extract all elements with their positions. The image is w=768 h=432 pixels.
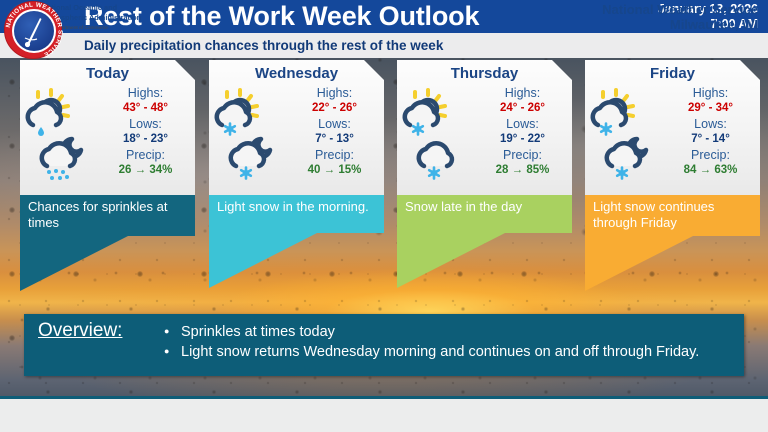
lows-value: 18° - 23° [98, 132, 193, 146]
forecast-day-name: Thursday [397, 65, 572, 82]
footer-office-name: National Weather Service [602, 3, 758, 18]
weather-graphic: Rest of the Work Week Outlook January 13… [0, 0, 768, 432]
forecast-panel-today[interactable]: Today [20, 60, 195, 291]
footer-office: National Weather Service Milwaukee, WI [602, 3, 758, 32]
forecast-card: Wednesday [209, 60, 384, 195]
lows-value: 19° - 22° [475, 132, 570, 146]
highs-label: Highs: [475, 86, 570, 101]
forecast-bubble-tail [397, 232, 572, 288]
forecast-panel-thursday[interactable]: Thursday [397, 60, 572, 288]
forecast-stats: Highs: 29° - 34° Lows: 7° - 14° Precip: … [663, 84, 758, 178]
lows-value: 7° - 13° [287, 132, 382, 146]
forecast-bubble-tail [20, 235, 195, 291]
sun-cloud-snow-icon [214, 87, 272, 137]
nws-roundel-logo: NATIONAL WEATHER SERVICE [4, 1, 62, 59]
forecast-card: Thursday [397, 60, 572, 195]
footer-bar [0, 399, 768, 432]
precip-value: 26 → 34% [98, 163, 193, 177]
precip-value: 40 → 15% [287, 163, 382, 177]
forecast-bubble-tail [209, 232, 384, 288]
lows-label: Lows: [663, 117, 758, 132]
highs-value: 22° - 26° [287, 101, 382, 115]
precip-label: Precip: [663, 148, 758, 163]
forecast-card: Friday [585, 60, 760, 195]
highs-label: Highs: [98, 86, 193, 101]
forecast-stats: Highs: 22° - 26° Lows: 7° - 13° Precip: … [287, 84, 382, 178]
lows-label: Lows: [475, 117, 570, 132]
sun-cloud-snow-icon [402, 87, 460, 137]
lows-value: 7° - 14° [663, 132, 758, 146]
forecast-icons [214, 85, 286, 190]
precip-value: 84 → 63% [663, 163, 758, 177]
forecast-summary: Light snow in the morning. [209, 195, 384, 233]
sun-cloud-rain-icon [25, 87, 83, 137]
precip-label: Precip: [98, 148, 193, 163]
forecast-icons [402, 85, 474, 190]
page-subtitle: Daily precipitation chances through the … [84, 33, 443, 58]
nws-logo-lightning-icon [23, 14, 45, 48]
highs-value: 29° - 34° [663, 101, 758, 115]
forecast-summary: Snow late in the day [397, 195, 572, 233]
overview-bullet-list: Sprinkles at times today Light snow retu… [164, 322, 699, 362]
precip-value: 28 → 85% [475, 163, 570, 177]
forecast-panel-wednesday[interactable]: Wednesday [209, 60, 384, 288]
moon-cloud-snow-icon [604, 133, 662, 183]
forecast-panel-friday[interactable]: Friday [585, 60, 760, 291]
cloud-snow-icon [416, 133, 474, 183]
forecast-bubble-tail [585, 235, 760, 291]
list-item: Light snow returns Wednesday morning and… [164, 342, 699, 362]
highs-value: 43° - 48° [98, 101, 193, 115]
forecast-stats: Highs: 24° - 26° Lows: 19° - 22° Precip:… [475, 84, 570, 178]
forecast-panel-row: Today [0, 60, 768, 300]
forecast-day-name: Today [20, 65, 195, 82]
highs-value: 24° - 26° [475, 101, 570, 115]
forecast-summary: Chances for sprinkles at times [20, 195, 195, 236]
highs-label: Highs: [287, 86, 382, 101]
forecast-day-name: Wednesday [209, 65, 384, 82]
forecast-summary: Light snow continues through Friday [585, 195, 760, 236]
forecast-icons [25, 85, 97, 190]
overview-title: Overview: [38, 320, 122, 342]
precip-label: Precip: [475, 148, 570, 163]
forecast-card: Today [20, 60, 195, 195]
highs-label: Highs: [663, 86, 758, 101]
forecast-icons [590, 85, 662, 190]
list-item: Sprinkles at times today [164, 322, 699, 342]
precip-label: Precip: [287, 148, 382, 163]
forecast-stats: Highs: 43° - 48° Lows: 18° - 23° Precip:… [98, 84, 193, 178]
overview-box: Overview: Sprinkles at times today Light… [24, 314, 744, 376]
page-title: Rest of the Work Week Outlook [84, 0, 479, 33]
footer-office-location: Milwaukee, WI [602, 18, 758, 33]
lows-label: Lows: [98, 117, 193, 132]
sun-cloud-snow-icon [590, 87, 648, 137]
moon-cloud-drizzle-icon [39, 133, 97, 183]
lows-label: Lows: [287, 117, 382, 132]
forecast-day-name: Friday [585, 65, 760, 82]
moon-cloud-snow-icon [228, 133, 286, 183]
